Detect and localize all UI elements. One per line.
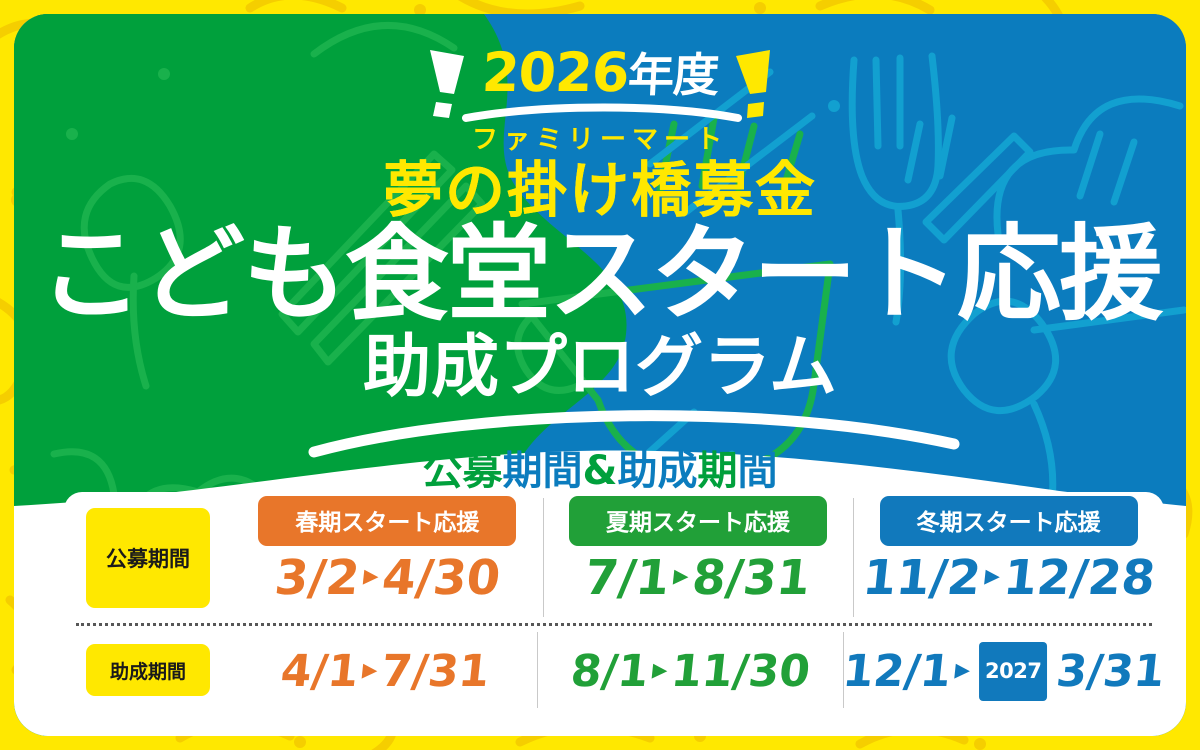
- chip-spring: 春期スタート応援: [258, 496, 516, 546]
- date-range-spring-grant: 4/1 ▸ 7/31: [276, 630, 493, 714]
- section-heading-char: 募: [463, 438, 503, 496]
- row-label-cell-grant: 助成期間: [64, 626, 232, 714]
- date-range-spring-application: 3/2 ▸ 4/30: [272, 552, 503, 604]
- page-title: こども食堂スタート応援: [14, 222, 1186, 326]
- application-season-columns: 春期スタート応援 3/2 ▸ 4/30 夏期スタート応援 7/1 ▸ 8/31: [232, 492, 1164, 623]
- date-end: 4/30: [379, 552, 502, 604]
- column-spring-grant: 4/1 ▸ 7/31: [232, 626, 537, 714]
- date-end: 8/31: [690, 552, 813, 604]
- year-number: 2026: [480, 41, 630, 104]
- main-card: 2026年度 ファミリーマート 夢の掛け橋募金 こども食堂スタート応援 助成プロ…: [14, 14, 1186, 736]
- arrow-icon: ▸: [953, 655, 971, 685]
- column-summer-application: 夏期スタート応援 7/1 ▸ 8/31: [543, 492, 854, 623]
- date-end: 3/31: [1053, 646, 1166, 698]
- arrow-icon: ▸: [983, 561, 1001, 591]
- section-heading-char: 成: [657, 438, 697, 496]
- date-range-winter-application: 11/2 ▸ 12/28: [860, 552, 1157, 604]
- section-heading-char: &: [583, 448, 618, 494]
- year-badge-2027: 2027: [979, 643, 1047, 702]
- column-spring-application: 春期スタート応援 3/2 ▸ 4/30: [232, 492, 543, 623]
- arrow-icon: ▸: [362, 561, 380, 591]
- date-range-summer-grant: 8/1 ▸ 11/30: [566, 630, 814, 714]
- date-end: 11/30: [668, 646, 812, 698]
- chip-winter: 冬期スタート応援: [880, 496, 1138, 546]
- section-heading-char: 期: [503, 438, 543, 496]
- chip-summer: 夏期スタート応援: [569, 496, 827, 546]
- poster-root: 2026年度 ファミリーマート 夢の掛け橋募金 こども食堂スタート応援 助成プロ…: [0, 0, 1200, 750]
- section-heading-char: 助: [617, 438, 657, 496]
- arrow-icon: ▸: [672, 561, 690, 591]
- schedule-table: 公募期間 春期スタート応援 3/2 ▸ 4/30 夏期スタート応援: [64, 492, 1164, 714]
- date-end: 12/28: [1001, 552, 1158, 604]
- row-label-grant: 助成期間: [86, 644, 210, 696]
- date-start: 8/1: [568, 646, 651, 698]
- row-label-application: 公募期間: [86, 508, 210, 608]
- date-start: 12/1: [840, 646, 953, 698]
- arrow-icon: ▸: [360, 655, 378, 685]
- date-start: 4/1: [278, 646, 361, 698]
- page-subtitle: 助成プログラム: [14, 334, 1186, 402]
- date-start: 11/2: [860, 552, 983, 604]
- table-row-grant: 助成期間 4/1 ▸ 7/31 8/1 ▸ 11: [64, 626, 1164, 714]
- date-start: 3/2: [272, 552, 362, 604]
- year-heading: 2026年度: [480, 46, 719, 102]
- column-winter-application: 冬期スタート応援 11/2 ▸ 12/28: [853, 492, 1164, 623]
- table-row-application: 公募期間 春期スタート応援 3/2 ▸ 4/30 夏期スタート応援: [64, 492, 1164, 623]
- column-summer-grant: 8/1 ▸ 11/30: [537, 626, 842, 714]
- grant-season-columns: 4/1 ▸ 7/31 8/1 ▸ 11/30: [232, 626, 1164, 714]
- section-heading: 公募期間&助成期間: [14, 438, 1186, 496]
- section-heading-char: 期: [697, 438, 737, 496]
- year-suffix: 年度: [627, 48, 720, 102]
- section-heading-char: 間: [543, 438, 583, 496]
- row-label-cell-application: 公募期間: [64, 492, 232, 623]
- date-range-winter-grant: 12/1 ▸ 2027 3/31: [838, 630, 1168, 714]
- column-winter-grant: 12/1 ▸ 2027 3/31: [843, 626, 1164, 714]
- section-heading-char: 間: [737, 438, 777, 496]
- arrow-icon: ▸: [650, 655, 668, 685]
- date-range-summer-application: 7/1 ▸ 8/31: [583, 552, 814, 604]
- date-end: 7/31: [378, 646, 491, 698]
- date-start: 7/1: [583, 552, 673, 604]
- section-heading-char: 公: [423, 438, 463, 496]
